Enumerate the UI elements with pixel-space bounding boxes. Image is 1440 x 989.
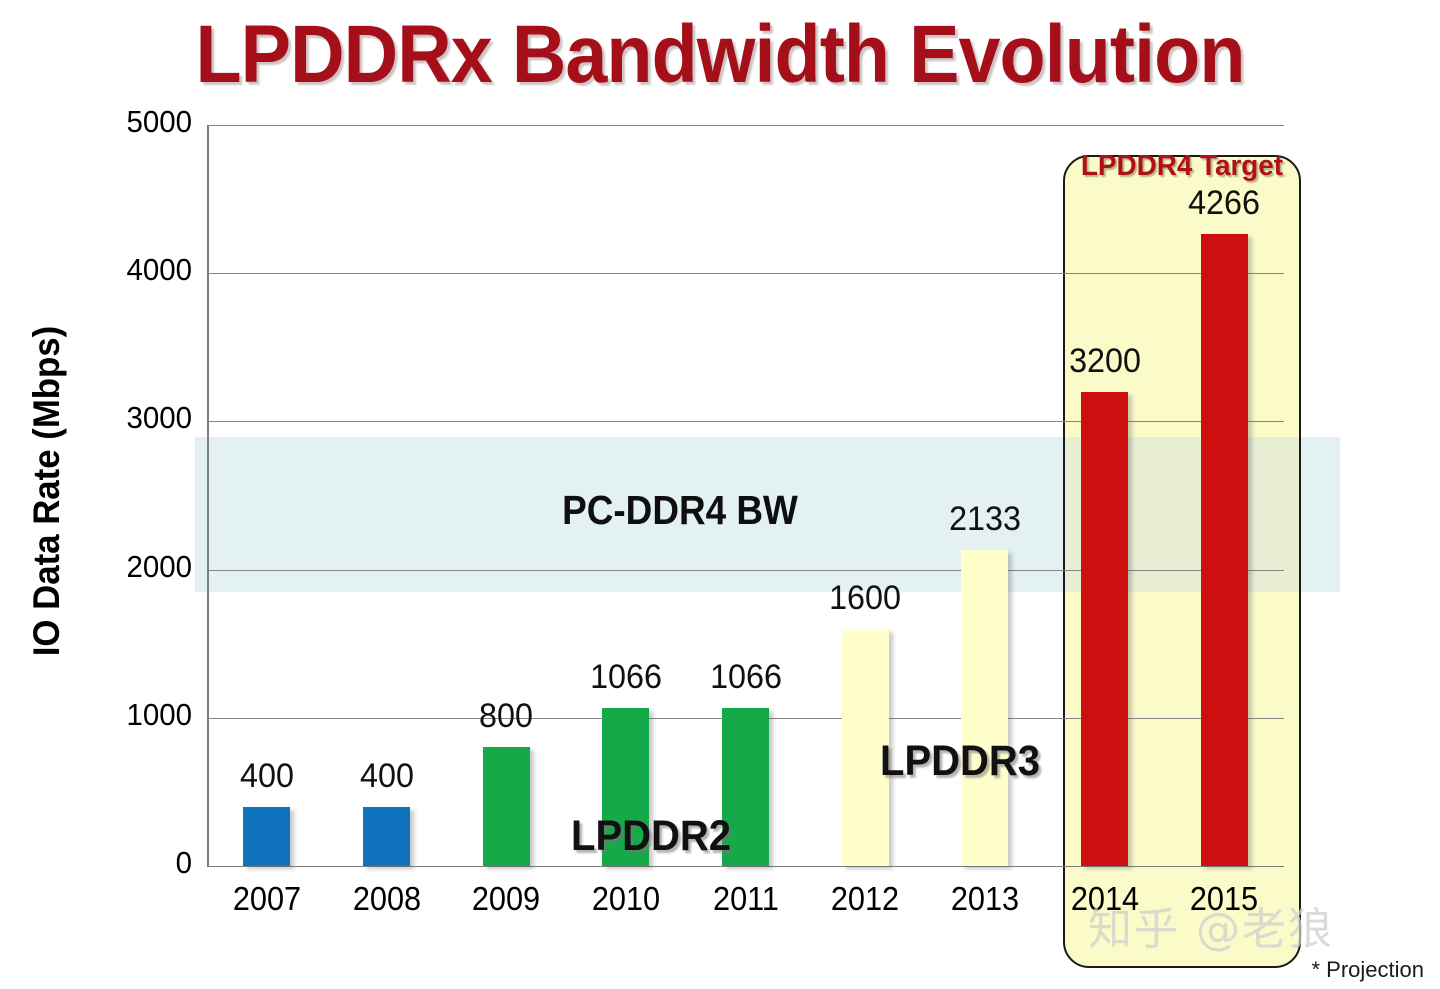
- bar-value-2015: 4266: [1148, 184, 1300, 223]
- bar-2015: [1201, 234, 1248, 866]
- bar-2009: [483, 747, 530, 866]
- bar-2013: [961, 550, 1008, 866]
- series-label-lpddr3: LPDDR3: [880, 737, 1040, 786]
- bar-value-2008: 400: [311, 757, 463, 796]
- series-label-lpddr2: LPDDR2: [571, 812, 731, 861]
- gridline-0: [207, 866, 1284, 867]
- bar-2014: [1081, 392, 1128, 866]
- bar-value-2012: 1600: [789, 579, 941, 618]
- bar-value-2011: 1066: [670, 658, 822, 697]
- bar-2008: [363, 807, 410, 866]
- bar-value-2009: 800: [430, 697, 582, 736]
- chart-canvas: LPDDRx Bandwidth Evolution LPDDR4 Target…: [0, 0, 1440, 989]
- y-tick-label-0: 0: [29, 845, 192, 881]
- pc-ddr4-band-label: PC-DDR4 BW: [401, 487, 959, 534]
- bar-2007: [243, 807, 290, 866]
- page-title: LPDDRx Bandwidth Evolution: [58, 8, 1383, 102]
- y-tick-label-5000: 5000: [29, 104, 192, 140]
- watermark: 知乎 @老狼: [1088, 893, 1334, 957]
- y-axis-title: IO Data Rate (Mbps): [26, 270, 68, 712]
- bar-value-2014: 3200: [1029, 342, 1181, 381]
- projection-footnote: * Projection: [1311, 957, 1424, 983]
